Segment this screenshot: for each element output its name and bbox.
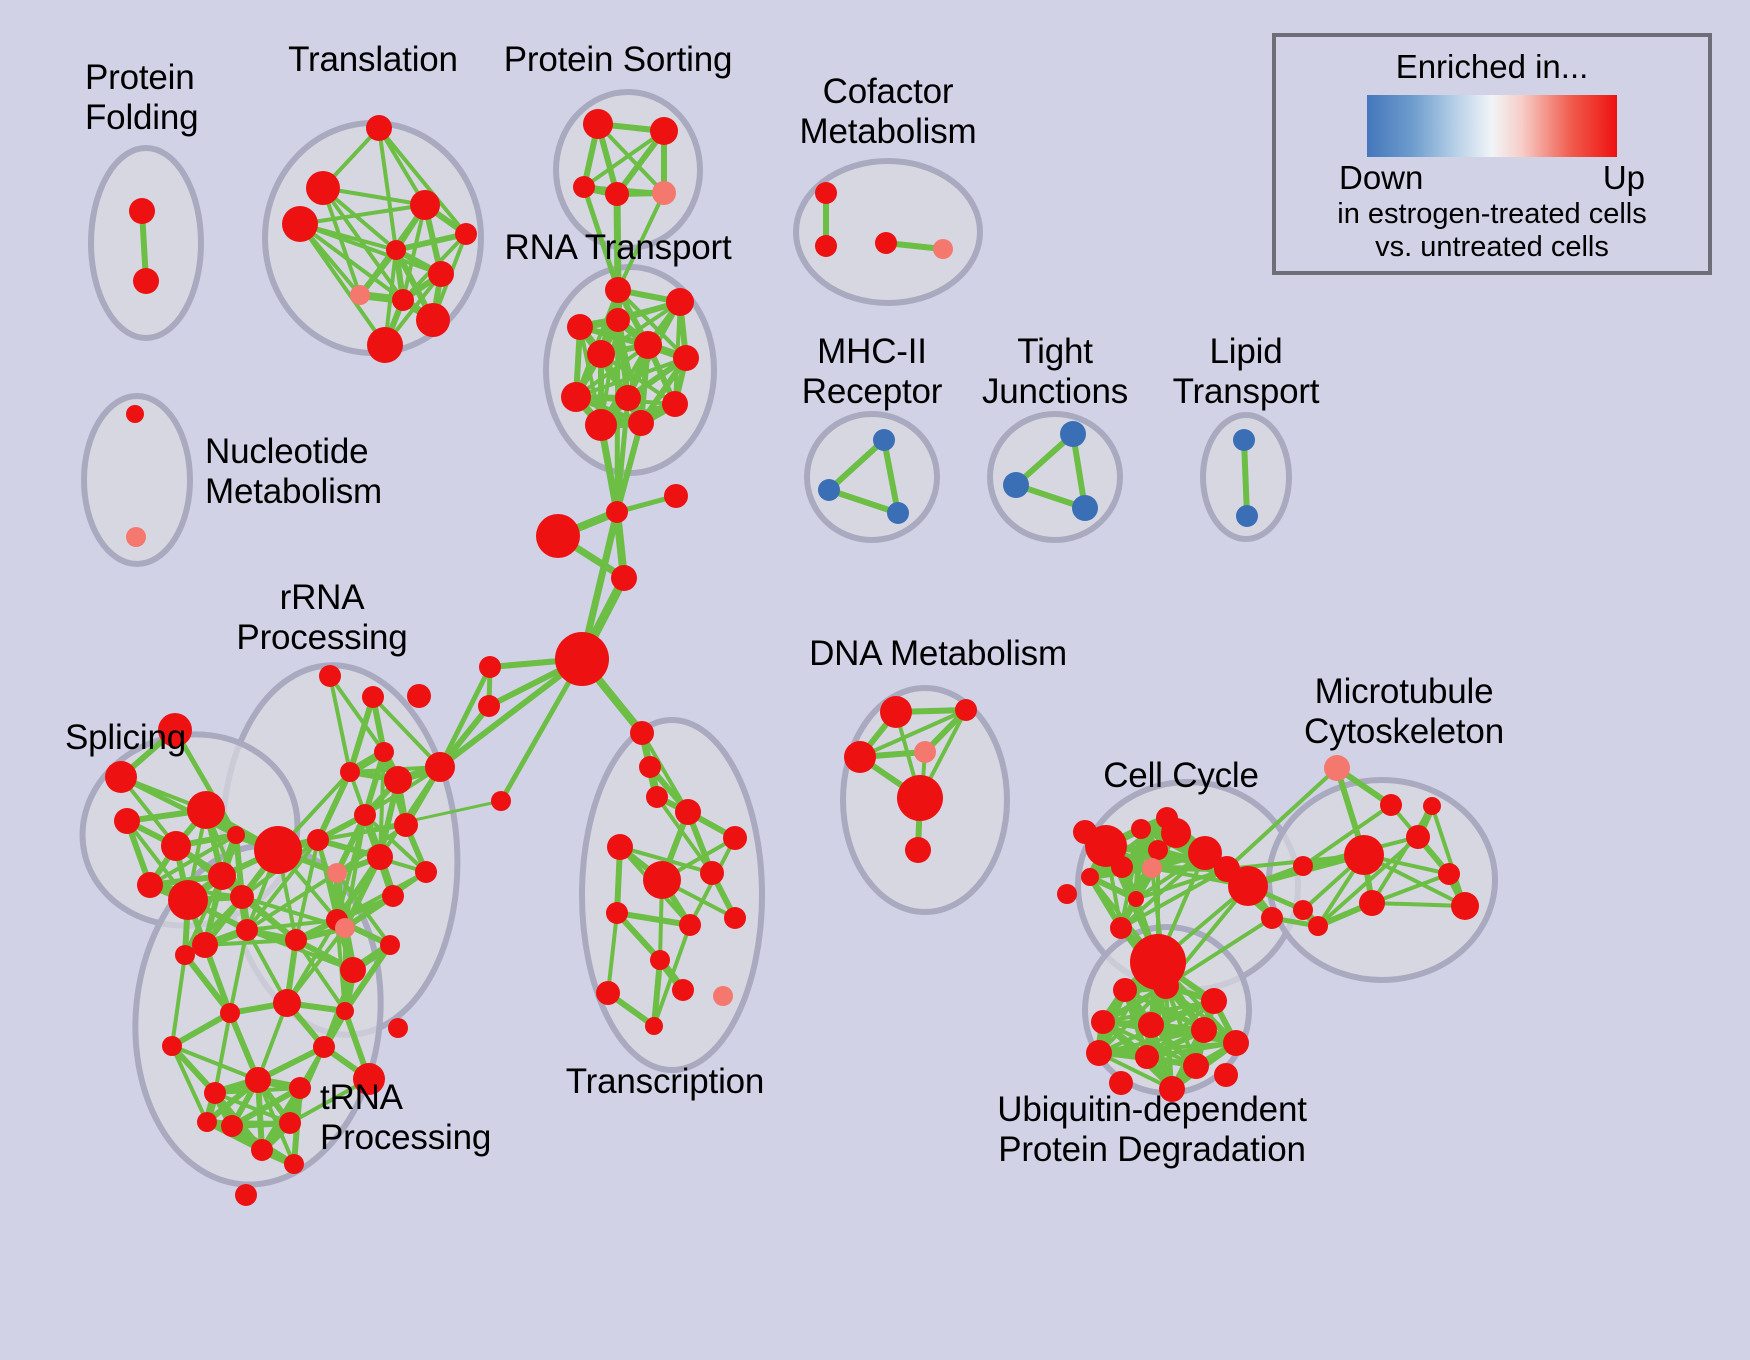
network-node[interactable] xyxy=(1060,421,1086,447)
network-node[interactable] xyxy=(367,844,393,870)
network-node[interactable] xyxy=(162,1036,182,1056)
network-node[interactable] xyxy=(605,277,631,303)
cluster-ellipse-mhc-ii-receptor xyxy=(807,414,937,540)
network-node[interactable] xyxy=(887,502,909,524)
network-node[interactable] xyxy=(416,303,450,337)
network-node[interactable] xyxy=(479,656,501,678)
network-node[interactable] xyxy=(1057,884,1077,904)
network-node[interactable] xyxy=(1086,1040,1112,1066)
network-node[interactable] xyxy=(425,752,455,782)
network-node[interactable] xyxy=(367,327,403,363)
network-node[interactable] xyxy=(1228,866,1268,906)
cluster-label-line: Protein xyxy=(85,58,198,98)
cluster-label-ubiquitin-degradation: Ubiquitin-dependentProtein Degradation xyxy=(997,1090,1307,1170)
network-node[interactable] xyxy=(235,1184,257,1206)
network-node[interactable] xyxy=(606,308,630,332)
network-node[interactable] xyxy=(1293,856,1313,876)
cluster-label-microtubule-cytoskeleton: MicrotubuleCytoskeleton xyxy=(1304,672,1504,752)
network-node[interactable] xyxy=(221,1115,243,1137)
network-node[interactable] xyxy=(1073,820,1097,844)
color-scale-bar xyxy=(1367,95,1617,157)
cluster-label-line: Cytoskeleton xyxy=(1304,712,1504,752)
cluster-label-protein-folding: ProteinFolding xyxy=(85,58,198,138)
network-node[interactable] xyxy=(1113,978,1137,1002)
network-node[interactable] xyxy=(606,501,628,523)
network-node[interactable] xyxy=(844,741,876,773)
enrichment-map-figure: ProteinFoldingTranslationProtein Sorting… xyxy=(0,0,1750,1360)
network-node[interactable] xyxy=(700,861,724,885)
network-node[interactable] xyxy=(933,239,953,259)
network-node[interactable] xyxy=(384,766,412,794)
network-node[interactable] xyxy=(605,182,629,206)
network-node[interactable] xyxy=(1081,868,1099,886)
network-node[interactable] xyxy=(634,331,662,359)
network-node[interactable] xyxy=(382,885,404,907)
network-node[interactable] xyxy=(340,762,360,782)
network-edge xyxy=(1244,440,1247,516)
network-node[interactable] xyxy=(873,429,895,451)
network-node[interactable] xyxy=(168,880,208,920)
network-node[interactable] xyxy=(630,721,654,745)
network-node[interactable] xyxy=(126,405,144,423)
network-node[interactable] xyxy=(204,1082,226,1104)
cluster-label-line: Transcription xyxy=(566,1062,764,1102)
cluster-label-cofactor-metabolism: CofactorMetabolism xyxy=(800,72,977,152)
network-node[interactable] xyxy=(105,761,137,793)
network-node[interactable] xyxy=(366,115,392,141)
network-node[interactable] xyxy=(410,190,440,220)
network-node[interactable] xyxy=(1183,1053,1209,1079)
network-node[interactable] xyxy=(1308,916,1328,936)
network-node[interactable] xyxy=(1359,890,1385,916)
cluster-label-line: Metabolism xyxy=(800,112,977,152)
network-node[interactable] xyxy=(388,1018,408,1038)
network-node[interactable] xyxy=(1236,505,1258,527)
cluster-label-line: Nucleotide xyxy=(205,432,382,472)
cluster-label-line: Microtubule xyxy=(1304,672,1504,712)
network-node[interactable] xyxy=(220,1003,240,1023)
network-node[interactable] xyxy=(664,484,688,508)
network-node[interactable] xyxy=(313,1036,335,1058)
cluster-label-line: Translation xyxy=(288,40,458,80)
network-node[interactable] xyxy=(1201,988,1227,1014)
network-node[interactable] xyxy=(208,862,236,890)
network-node[interactable] xyxy=(478,695,500,717)
legend-high-label: Up xyxy=(1603,159,1645,197)
network-node[interactable] xyxy=(282,206,318,242)
network-node[interactable] xyxy=(1153,973,1179,999)
network-node[interactable] xyxy=(652,181,676,205)
network-node[interactable] xyxy=(306,171,340,205)
cluster-label-line: Junctions xyxy=(982,372,1128,412)
network-node[interactable] xyxy=(1191,1017,1217,1043)
network-node[interactable] xyxy=(662,391,688,417)
network-node[interactable] xyxy=(340,957,366,983)
cluster-label-trna-processing: tRNAProcessing xyxy=(320,1078,491,1158)
network-node[interactable] xyxy=(350,285,370,305)
network-node[interactable] xyxy=(284,1154,304,1174)
network-node[interactable] xyxy=(650,117,678,145)
network-node[interactable] xyxy=(1214,1063,1238,1087)
network-node[interactable] xyxy=(1091,1010,1115,1034)
network-node[interactable] xyxy=(666,288,694,316)
cluster-label-line: Cell Cycle xyxy=(1103,756,1259,796)
network-node[interactable] xyxy=(815,182,837,204)
cluster-label-protein-sorting: Protein Sorting xyxy=(504,40,733,80)
network-node[interactable] xyxy=(254,826,302,874)
cluster-label-line: Lipid xyxy=(1173,332,1320,372)
network-node[interactable] xyxy=(646,786,668,808)
legend-low-label: Down xyxy=(1339,159,1423,197)
network-node[interactable] xyxy=(455,223,477,245)
cluster-label-line: DNA Metabolism xyxy=(809,634,1067,674)
network-node[interactable] xyxy=(236,919,258,941)
network-node[interactable] xyxy=(374,742,394,762)
network-node[interactable] xyxy=(319,665,341,687)
network-node[interactable] xyxy=(137,872,163,898)
cluster-label-lipid-transport: LipidTransport xyxy=(1173,332,1320,412)
cluster-label-line: Tight xyxy=(982,332,1128,372)
legend-box: Enriched in... Down Up in estrogen-treat… xyxy=(1272,33,1712,275)
network-node[interactable] xyxy=(573,176,595,198)
cluster-label-line: Ubiquitin-dependent xyxy=(997,1090,1307,1130)
network-node[interactable] xyxy=(650,950,670,970)
network-node[interactable] xyxy=(1131,819,1151,839)
network-node[interactable] xyxy=(307,829,329,851)
network-node[interactable] xyxy=(336,1002,354,1020)
network-node[interactable] xyxy=(1072,495,1098,521)
network-node[interactable] xyxy=(675,799,701,825)
network-node[interactable] xyxy=(114,808,140,834)
network-node[interactable] xyxy=(394,813,418,837)
network-node[interactable] xyxy=(380,935,400,955)
network-node[interactable] xyxy=(245,1067,271,1093)
cluster-ellipse-protein-sorting xyxy=(556,92,700,248)
legend-title: Enriched in... xyxy=(1276,48,1708,86)
network-edge xyxy=(207,1122,290,1123)
network-node[interactable] xyxy=(615,385,641,411)
network-node[interactable] xyxy=(1380,794,1402,816)
network-node[interactable] xyxy=(386,240,406,260)
network-node[interactable] xyxy=(392,289,414,311)
network-node[interactable] xyxy=(1324,755,1350,781)
network-node[interactable] xyxy=(428,261,454,287)
cluster-label-line: tRNA xyxy=(320,1078,491,1118)
cluster-label-line: Metabolism xyxy=(205,472,382,512)
network-node[interactable] xyxy=(880,696,912,728)
network-node[interactable] xyxy=(1128,891,1144,907)
network-node[interactable] xyxy=(643,861,681,899)
network-node[interactable] xyxy=(1293,900,1313,920)
network-node[interactable] xyxy=(289,1077,311,1099)
network-node[interactable] xyxy=(1233,429,1255,451)
network-node[interactable] xyxy=(251,1139,273,1161)
cluster-label-line: rRNA xyxy=(236,578,407,618)
cluster-label-tight-junctions: TightJunctions xyxy=(982,332,1128,412)
network-node[interactable] xyxy=(955,699,977,721)
network-node[interactable] xyxy=(1451,892,1479,920)
network-node[interactable] xyxy=(362,686,384,708)
network-node[interactable] xyxy=(161,831,191,861)
network-node[interactable] xyxy=(673,345,699,371)
network-node[interactable] xyxy=(230,885,254,909)
cluster-label-line: Receptor xyxy=(802,372,942,412)
legend-caption-line2: vs. untreated cells xyxy=(1276,231,1708,263)
network-node[interactable] xyxy=(187,791,225,829)
cluster-label-rna-transport: RNA Transport xyxy=(505,228,732,268)
network-node[interactable] xyxy=(611,565,637,591)
cluster-label-dna-metabolism: DNA Metabolism xyxy=(809,634,1067,674)
network-node[interactable] xyxy=(1003,472,1029,498)
network-node[interactable] xyxy=(1223,1030,1249,1056)
network-node[interactable] xyxy=(1135,1045,1159,1069)
network-node[interactable] xyxy=(555,632,609,686)
cluster-label-transcription: Transcription xyxy=(566,1062,764,1102)
network-node[interactable] xyxy=(914,741,936,763)
network-node[interactable] xyxy=(607,834,633,860)
network-node[interactable] xyxy=(175,945,195,965)
cluster-label-line: Processing xyxy=(320,1118,491,1158)
network-node[interactable] xyxy=(227,826,245,844)
network-node[interactable] xyxy=(1148,840,1168,860)
network-node[interactable] xyxy=(1111,856,1133,878)
network-node[interactable] xyxy=(415,861,437,883)
cluster-label-line: Processing xyxy=(236,618,407,658)
network-node[interactable] xyxy=(818,479,840,501)
network-node[interactable] xyxy=(133,268,159,294)
cluster-label-line: Cofactor xyxy=(800,72,977,112)
cluster-label-mhc-ii-receptor: MHC-IIReceptor xyxy=(802,332,942,412)
network-node[interactable] xyxy=(672,979,694,1001)
network-node[interactable] xyxy=(1142,858,1162,878)
network-node[interactable] xyxy=(585,409,617,441)
network-node[interactable] xyxy=(587,340,615,368)
network-node[interactable] xyxy=(875,232,897,254)
network-node[interactable] xyxy=(628,410,654,436)
network-node[interactable] xyxy=(1438,863,1460,885)
cluster-label-line: Folding xyxy=(85,98,198,138)
cluster-label-splicing: Splicing xyxy=(65,718,186,758)
network-node[interactable] xyxy=(285,929,307,951)
network-node[interactable] xyxy=(1138,1012,1164,1038)
network-node[interactable] xyxy=(126,527,146,547)
network-node[interactable] xyxy=(905,837,931,863)
cluster-label-line: Protein Sorting xyxy=(504,40,733,80)
network-node[interactable] xyxy=(596,981,620,1005)
network-node[interactable] xyxy=(1344,835,1384,875)
network-node[interactable] xyxy=(723,826,747,850)
network-node[interactable] xyxy=(679,914,701,936)
network-node[interactable] xyxy=(192,932,218,958)
network-node[interactable] xyxy=(536,514,580,558)
cluster-label-line: Transport xyxy=(1173,372,1320,412)
network-node[interactable] xyxy=(561,382,591,412)
network-node[interactable] xyxy=(1423,797,1441,815)
network-node[interactable] xyxy=(1110,917,1132,939)
network-node[interactable] xyxy=(197,1112,217,1132)
cluster-label-line: RNA Transport xyxy=(505,228,732,268)
legend-endpoints: Down Up xyxy=(1339,159,1645,197)
cluster-label-line: MHC-II xyxy=(802,332,942,372)
network-node[interactable] xyxy=(129,198,155,224)
legend-caption-line1: in estrogen-treated cells xyxy=(1276,198,1708,230)
network-node[interactable] xyxy=(1406,825,1430,849)
network-node[interactable] xyxy=(606,902,628,924)
cluster-label-cell-cycle: Cell Cycle xyxy=(1103,756,1259,796)
cluster-label-translation: Translation xyxy=(288,40,458,80)
network-node[interactable] xyxy=(407,684,431,708)
cluster-label-rrna-processing: rRNAProcessing xyxy=(236,578,407,658)
network-node[interactable] xyxy=(897,775,943,821)
network-node[interactable] xyxy=(713,986,733,1006)
network-node[interactable] xyxy=(335,918,355,938)
network-node[interactable] xyxy=(815,235,837,257)
cluster-label-nucleotide-metabolism: NucleotideMetabolism xyxy=(205,432,382,512)
network-node[interactable] xyxy=(279,1112,301,1134)
network-node[interactable] xyxy=(273,989,301,1017)
network-node[interactable] xyxy=(567,314,593,340)
network-node[interactable] xyxy=(354,804,376,826)
cluster-label-line: Splicing xyxy=(65,718,186,758)
cluster-label-line: Protein Degradation xyxy=(997,1130,1307,1170)
network-node[interactable] xyxy=(645,1017,663,1035)
network-node[interactable] xyxy=(724,907,746,929)
network-node[interactable] xyxy=(491,791,511,811)
network-node[interactable] xyxy=(1261,907,1283,929)
network-node[interactable] xyxy=(583,109,613,139)
network-node[interactable] xyxy=(639,756,661,778)
network-node[interactable] xyxy=(327,863,347,883)
